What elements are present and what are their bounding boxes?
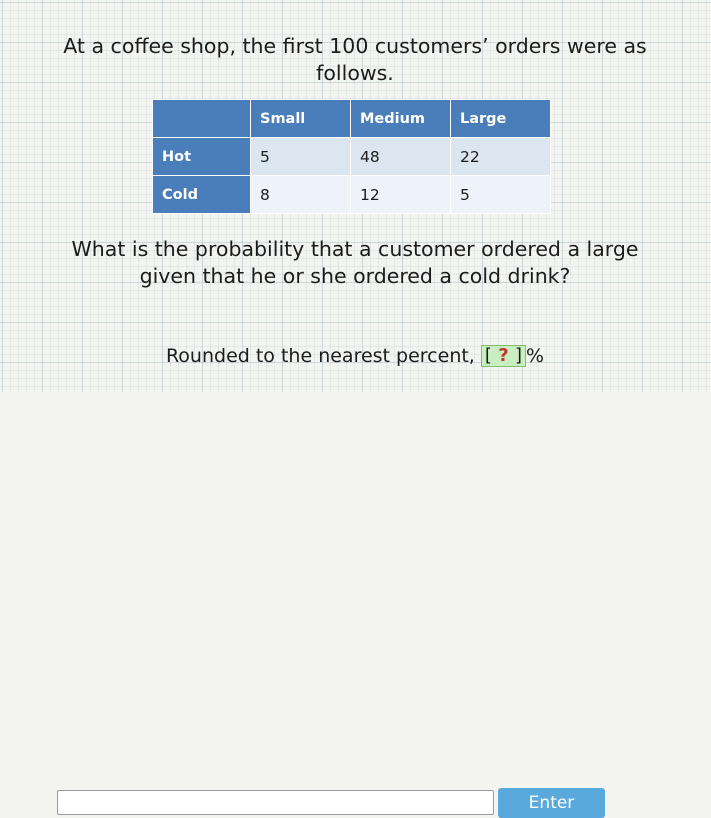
- table-header-row: Small Medium Large: [153, 100, 551, 138]
- enter-button[interactable]: Enter: [498, 788, 605, 818]
- cell-hot-large: 22: [451, 138, 551, 176]
- rounded-prefix-text: Rounded to the nearest percent,: [166, 345, 475, 367]
- blank-close-bracket: ]: [515, 345, 522, 366]
- cell-hot-medium: 48: [351, 138, 451, 176]
- blank-question-mark: ?: [498, 345, 508, 366]
- table-header-small: Small: [251, 100, 351, 138]
- table-header-large: Large: [451, 100, 551, 138]
- table-row: Hot 5 48 22: [153, 138, 551, 176]
- answer-bar: Enter: [0, 392, 711, 447]
- cell-hot-small: 5: [251, 138, 351, 176]
- problem-question-text: What is the probability that a customer …: [55, 236, 655, 290]
- problem-content: At a coffee shop, the first 100 customer…: [0, 0, 711, 447]
- cell-cold-small: 8: [251, 176, 351, 214]
- table-corner-cell: [153, 100, 251, 138]
- order-data-table: Small Medium Large Hot 5 48 22 Cold 8 12…: [152, 99, 551, 214]
- answer-input[interactable]: [57, 790, 494, 815]
- blank-open-bracket: [: [485, 345, 492, 366]
- table-row: Cold 8 12 5: [153, 176, 551, 214]
- percent-sign: %: [526, 345, 544, 367]
- table-row-label-hot: Hot: [153, 138, 251, 176]
- answer-blank-placeholder: [ ? ]: [481, 345, 526, 367]
- table-header-medium: Medium: [351, 100, 451, 138]
- table-row-label-cold: Cold: [153, 176, 251, 214]
- cell-cold-large: 5: [451, 176, 551, 214]
- rounded-instruction-line: Rounded to the nearest percent, [ ? ]%: [55, 345, 655, 367]
- problem-intro-text: At a coffee shop, the first 100 customer…: [60, 33, 650, 87]
- cell-cold-medium: 12: [351, 176, 451, 214]
